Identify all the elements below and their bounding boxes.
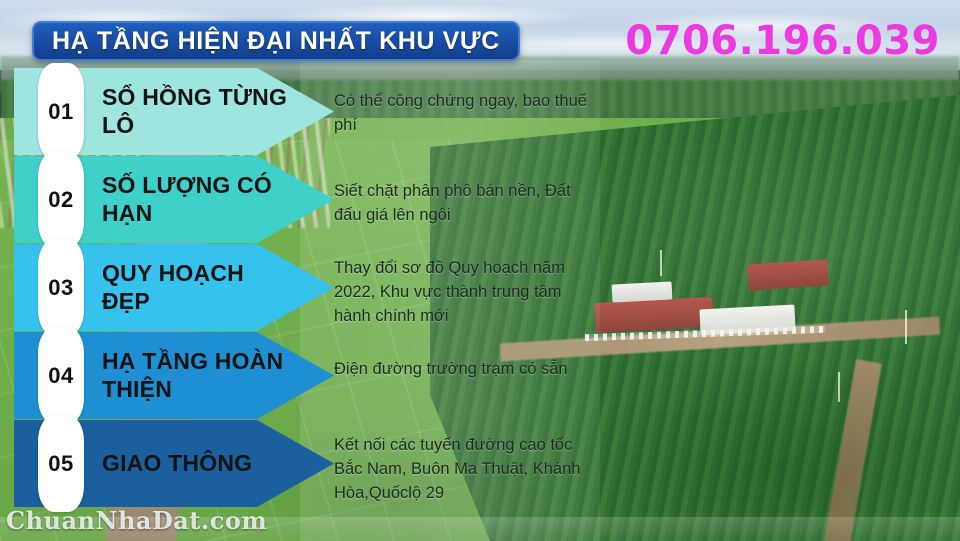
feature-description-02: Siết chặt phân phô bán nền, Đất đấu giá … (334, 180, 592, 228)
feature-row-01[interactable]: 01 SỔ HỒNG TỪNG LÔ (14, 68, 334, 155)
feature-label-04: HẠ TẦNG HOÀN THIỆN (102, 348, 292, 402)
site-watermark: ChuanNhaDat.com (6, 506, 267, 535)
feature-number-badge-01: 01 (38, 63, 84, 160)
feature-row-04[interactable]: 04 HẠ TẦNG HOÀN THIỆN (14, 332, 334, 419)
feature-number-badge-03: 03 (38, 239, 84, 336)
feature-label-03: QUY HOẠCH ĐẸP (102, 260, 292, 314)
feature-label-02: SỐ LƯỢNG CÓ HẠN (102, 172, 292, 226)
feature-number-04: 04 (48, 363, 73, 389)
feature-number-05: 05 (48, 451, 73, 477)
feature-number-badge-05: 05 (38, 415, 84, 512)
feature-row-03[interactable]: 03 QUY HOẠCH ĐẸP (14, 244, 334, 331)
phone-number[interactable]: 0706.196.039 (625, 18, 940, 64)
feature-list: 01 SỔ HỒNG TỪNG LÔ 02 SỐ LƯỢNG CÓ HẠN 03… (14, 68, 334, 508)
feature-description-05: Kết nối các tuyến đường cao tốc Bắc Nam,… (334, 434, 592, 506)
feature-number-03: 03 (48, 275, 73, 301)
feature-description-03: Thay đổi sơ đồ Quy hoạch năm 2022, Khu v… (334, 257, 592, 329)
feature-row-05[interactable]: 05 GIAO THÔNG (14, 420, 334, 507)
header-banner: HẠ TẦNG HIỆN ĐẠI NHẤT KHU VỰC (32, 21, 520, 61)
feature-description-04: Điện đường trường trạm có sẵn (334, 358, 568, 382)
feature-row-02[interactable]: 02 SỐ LƯỢNG CÓ HẠN (14, 156, 334, 243)
promo-banner-image: HẠ TẦNG HIỆN ĐẠI NHẤT KHU VỰC 0706.196.0… (0, 0, 960, 541)
feature-label-01: SỔ HỒNG TỪNG LÔ (102, 84, 292, 138)
feature-number-badge-04: 04 (38, 327, 84, 424)
feature-description-01: Có thể công chứng ngay, bao thuế phí (334, 90, 592, 138)
feature-number-02: 02 (48, 187, 73, 213)
feature-label-05: GIAO THÔNG (102, 450, 252, 477)
feature-number-01: 01 (48, 99, 73, 125)
header-banner-title: HẠ TẦNG HIỆN ĐẠI NHẤT KHU VỰC (52, 27, 500, 56)
feature-number-badge-02: 02 (38, 151, 84, 248)
